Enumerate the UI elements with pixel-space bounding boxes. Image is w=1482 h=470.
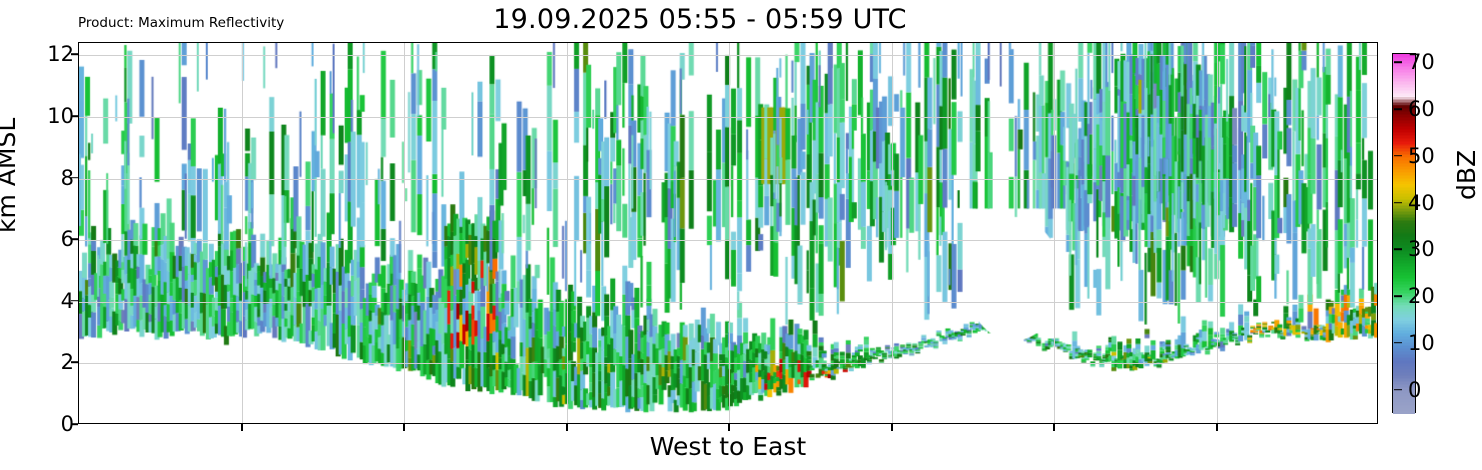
x-axis-label: West to East (78, 432, 1378, 461)
colorbar-segment (1393, 411, 1415, 414)
colorbar-tick-label: 0 (1408, 378, 1421, 402)
y-tick-mark (71, 362, 78, 364)
x-tick-mark (891, 424, 893, 431)
colorbar-tick-mark (1394, 389, 1402, 391)
y-tick-mark (71, 423, 78, 425)
reflectivity-heatmap (79, 43, 1377, 423)
y-tick-mark (71, 54, 78, 56)
product-label: Product: Maximum Reflectivity (78, 15, 284, 31)
colorbar-tick-mark (1394, 62, 1402, 64)
colorbar-tick-label: 20 (1408, 284, 1435, 308)
colorbar-tick-label: 60 (1408, 97, 1435, 121)
x-tick-mark (403, 424, 405, 431)
radar-cross-section-figure: 19.09.2025 05:55 - 05:59 UTC Product: Ma… (0, 0, 1482, 470)
y-tick-label: 10 (47, 104, 74, 128)
colorbar-tick-mark (1394, 249, 1402, 251)
y-axis-label: km AMSL (0, 118, 21, 233)
x-tick-mark (241, 424, 243, 431)
plot-area (78, 42, 1378, 424)
x-tick-mark (1053, 424, 1055, 431)
colorbar-tick-label: 30 (1408, 237, 1435, 261)
x-tick-mark (1216, 424, 1218, 431)
colorbar-tick-mark (1394, 202, 1402, 204)
colorbar-tick-mark (1394, 155, 1402, 157)
colorbar-tick-label: 40 (1408, 191, 1435, 215)
y-tick-mark (71, 177, 78, 179)
colorbar-unit-label: dBZ (1452, 150, 1481, 200)
colorbar-tick-mark (1394, 295, 1402, 297)
colorbar-tick-label: 10 (1408, 331, 1435, 355)
colorbar-tick-mark (1394, 108, 1402, 110)
colorbar-tick-mark (1394, 342, 1402, 344)
colorbar-tick-label: 70 (1408, 50, 1435, 74)
x-tick-mark (566, 424, 568, 431)
y-tick-label: 12 (47, 42, 74, 66)
x-tick-mark (728, 424, 730, 431)
y-tick-mark (71, 115, 78, 117)
colorbar-tick-label: 50 (1408, 144, 1435, 168)
y-tick-mark (71, 300, 78, 302)
y-tick-mark (71, 238, 78, 240)
